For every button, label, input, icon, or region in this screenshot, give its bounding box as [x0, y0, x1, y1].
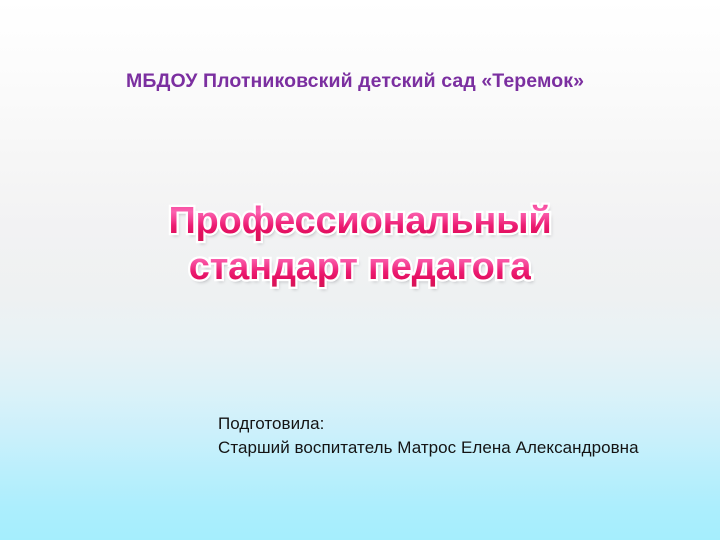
title-line-2: стандарт педагога стандарт педагога	[0, 244, 720, 290]
author-name: Старший воспитатель Матрос Елена Алексан…	[218, 436, 639, 460]
author-block: Подготовила: Старший воспитатель Матрос …	[218, 412, 639, 460]
slide-title: Профессиональный Профессиональный станда…	[0, 198, 720, 290]
title-line-2-text: стандарт педагога	[189, 244, 531, 290]
title-line-1: Профессиональный Профессиональный	[0, 198, 720, 244]
organization-header: МБДОУ Плотниковский детский сад «Теремок…	[126, 70, 646, 93]
author-label: Подготовила:	[218, 412, 639, 436]
title-slide: МБДОУ Плотниковский детский сад «Теремок…	[0, 0, 720, 540]
title-line-1-text: Профессиональный	[168, 198, 551, 244]
